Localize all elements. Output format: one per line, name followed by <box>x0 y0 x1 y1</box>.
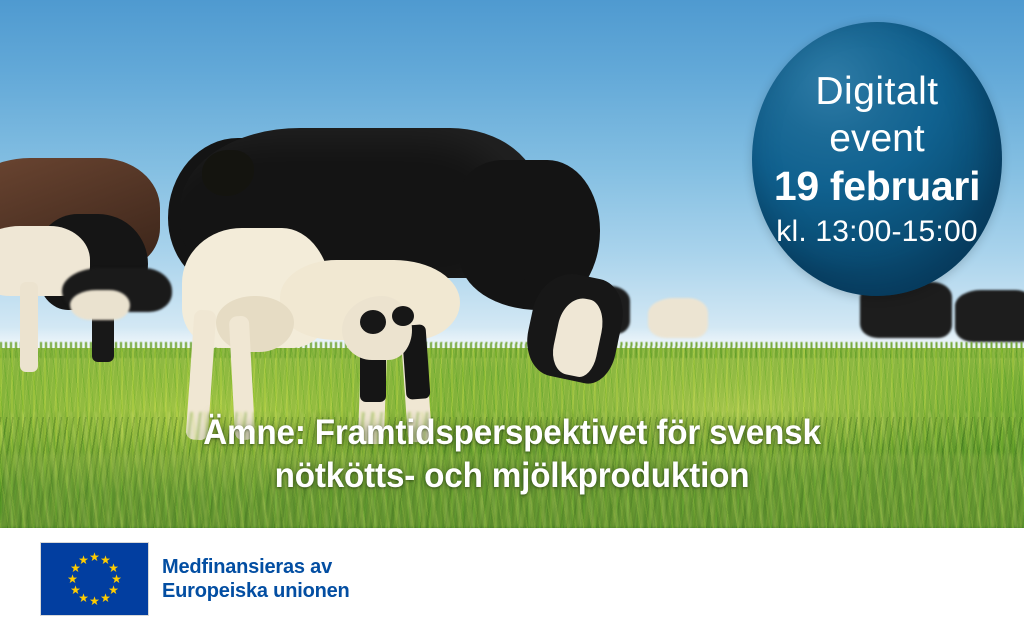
headline-line-1: Ämne: Framtidsperspektivet för svensk <box>203 413 821 452</box>
badge-line-event: event <box>829 119 924 158</box>
eu-text-line-1: Medfinansieras av <box>162 555 350 579</box>
european-union-flag: ★ ★ ★ ★ ★ ★ ★ ★ ★ ★ ★ ★ <box>40 542 149 616</box>
cow-leg <box>20 282 38 372</box>
badge-line-time: kl. 13:00-15:00 <box>776 217 977 247</box>
badge-line-date: 19 februari <box>774 166 980 207</box>
cow-foreground-holstein <box>160 120 600 420</box>
cow-udder <box>216 296 294 352</box>
eu-text-line-2: Europeiska unionen <box>162 579 350 603</box>
distant-cow <box>648 298 708 338</box>
sponsor-logo-bar: ★ ★ ★ ★ ★ ★ ★ ★ ★ ★ ★ ★ Medfinansieras a… <box>0 528 1024 640</box>
distant-cow <box>955 290 1024 342</box>
eu-funding-logo: ★ ★ ★ ★ ★ ★ ★ ★ ★ ★ ★ ★ Medfinansieras a… <box>40 542 350 616</box>
cow-white-patch <box>70 290 130 320</box>
cow-spot <box>360 310 386 334</box>
pasture-photo: Ämne: Framtidsperspektivet för svensk nö… <box>0 0 1024 528</box>
headline-line-2: nötkötts- och mjölkproduktion <box>64 455 961 498</box>
event-poster: Ämne: Framtidsperspektivet för svensk nö… <box>0 0 1024 640</box>
badge-line-digitalt: Digitalt <box>815 72 938 111</box>
eu-funding-text: Medfinansieras av Europeiska unionen <box>162 555 350 604</box>
cow-spot <box>392 306 414 326</box>
event-date-badge: Digitalt event 19 februari kl. 13:00-15:… <box>752 22 1002 296</box>
event-headline: Ämne: Framtidsperspektivet för svensk nö… <box>26 412 999 497</box>
